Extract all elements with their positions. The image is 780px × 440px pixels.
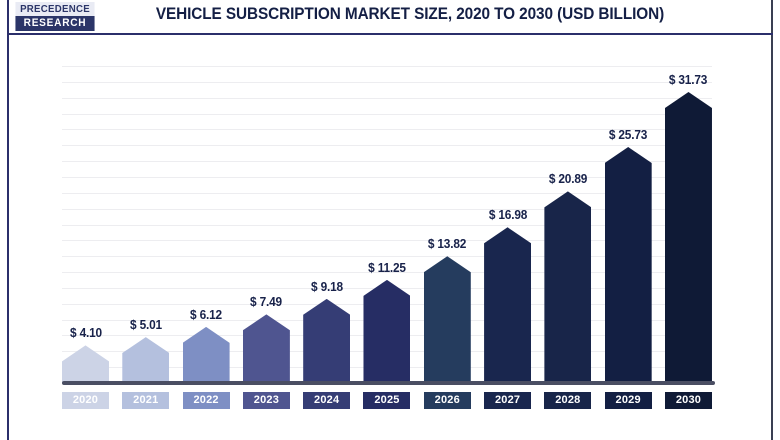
bar-shape[interactable]: [363, 280, 410, 383]
bar-column[interactable]: $ 9.18: [303, 66, 350, 383]
bar-value-label: $ 20.89: [525, 172, 611, 186]
bar-shape[interactable]: [243, 314, 290, 383]
bar-column[interactable]: $ 13.82: [424, 66, 471, 383]
bar-shape[interactable]: [665, 92, 712, 383]
frame-right-border: [771, 0, 773, 440]
bar-column[interactable]: $ 7.49: [243, 66, 290, 383]
chart-title: VEHICLE SUBSCRIPTION MARKET SIZE, 2020 T…: [131, 5, 689, 24]
title-divider-rule: [7, 33, 773, 35]
bar-column[interactable]: $ 5.01: [122, 66, 169, 383]
x-axis-label-2024[interactable]: 2024: [303, 392, 350, 409]
bar-column[interactable]: $ 25.73: [605, 66, 652, 383]
bar-shape[interactable]: [424, 256, 471, 383]
bar-value-label: $ 25.73: [585, 128, 671, 142]
x-axis-label-2029[interactable]: 2029: [605, 392, 652, 409]
frame-left-border: [7, 0, 9, 440]
x-axis-label-2026[interactable]: 2026: [424, 392, 471, 409]
x-axis-label-2020[interactable]: 2020: [62, 392, 109, 409]
bar-column[interactable]: $ 6.12: [183, 66, 230, 383]
bar-shape[interactable]: [62, 345, 109, 383]
x-axis-label-2025[interactable]: 2025: [363, 392, 410, 409]
bar-value-label: $ 7.49: [224, 295, 310, 309]
x-axis-label-2028[interactable]: 2028: [544, 392, 591, 409]
plot-area: $ 4.10$ 5.01$ 6.12$ 7.49$ 9.18$ 11.25$ 1…: [62, 66, 712, 383]
bar-column[interactable]: $ 16.98: [484, 66, 531, 383]
bar-column[interactable]: $ 4.10: [62, 66, 109, 383]
bar-shape[interactable]: [484, 227, 531, 383]
x-axis-label-2021[interactable]: 2021: [122, 392, 169, 409]
x-axis-label-2027[interactable]: 2027: [484, 392, 531, 409]
bar-column[interactable]: $ 11.25: [363, 66, 410, 383]
logo-line-precedence: PRECEDENCE: [15, 2, 94, 16]
bar-value-label: $ 11.25: [344, 261, 430, 275]
bar-value-label: $ 13.82: [405, 237, 491, 251]
bar-value-label: $ 31.73: [646, 73, 732, 87]
precedence-research-logo: PRECEDENCE RESEARCH: [12, 2, 98, 31]
bar-value-label: $ 9.18: [284, 280, 370, 294]
bar-shape[interactable]: [122, 337, 169, 383]
bar-shape[interactable]: [544, 191, 591, 383]
bar-shape[interactable]: [183, 327, 230, 383]
chart-canvas: PRECEDENCE RESEARCH VEHICLE SUBSCRIPTION…: [0, 0, 780, 440]
bar-series: $ 4.10$ 5.01$ 6.12$ 7.49$ 9.18$ 11.25$ 1…: [62, 66, 712, 383]
axis-baseline: [62, 381, 715, 385]
bar-shape[interactable]: [605, 147, 652, 383]
x-axis-labels: 2020202120222023202420252026202720282029…: [62, 392, 712, 412]
bar-value-label: $ 6.12: [163, 308, 249, 322]
bar-shape[interactable]: [303, 299, 350, 383]
bar-column[interactable]: $ 20.89: [544, 66, 591, 383]
x-axis-label-2030[interactable]: 2030: [665, 392, 712, 409]
x-axis-label-2023[interactable]: 2023: [243, 392, 290, 409]
x-axis-label-2022[interactable]: 2022: [183, 392, 230, 409]
bar-value-label: $ 16.98: [465, 208, 551, 222]
logo-line-research: RESEARCH: [15, 16, 94, 31]
bar-column[interactable]: $ 31.73: [665, 66, 712, 383]
